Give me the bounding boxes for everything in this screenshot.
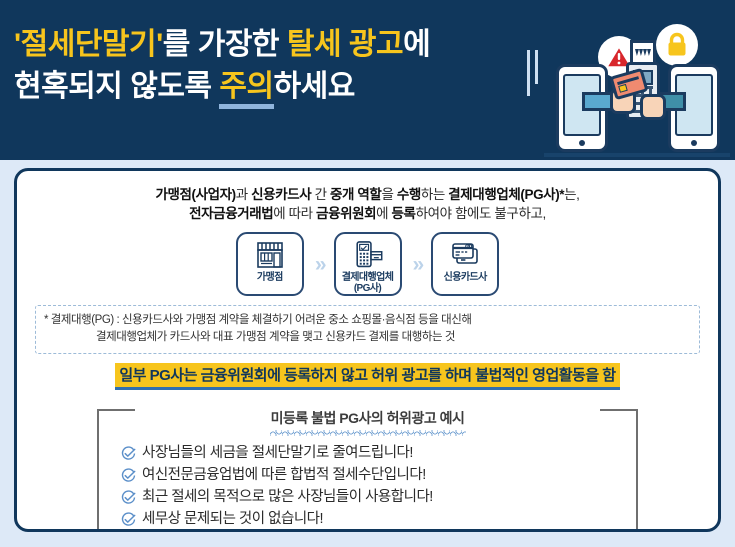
flow-step-merchant: 가맹점: [236, 232, 304, 296]
title-line-1: '절세단말기'를 가장한 탈세 광고에: [14, 26, 430, 64]
title-text-1: 를 가장한: [163, 28, 287, 61]
flow-step-pg-label-line1: 결제대행업체: [342, 272, 394, 283]
receipt-zigzag: [635, 49, 651, 56]
intro-b2: 신용카드사: [251, 187, 311, 202]
intro-t3: 을: [381, 187, 396, 202]
list-item-label: 세무상 문제되는 것이 없습니다!: [142, 508, 323, 530]
title-line-2: 현혹되지 않도록 주의하세요: [14, 68, 430, 106]
flow-step-pg-label-line2: (PG사): [354, 283, 381, 294]
card-magstripe: [617, 76, 639, 85]
flow-step-merchant-label: 가맹점: [257, 273, 283, 284]
title-highlight-caution: 주의: [219, 70, 273, 109]
list-item: 사장님들의 세금을 절세단말기로 줄여드립니다!: [121, 442, 638, 464]
flow-step-cardcompany: 신용카드사: [431, 232, 499, 296]
flow-step-pg: 결제대행업체 (PG사): [334, 232, 402, 296]
flow-arrow-1: »: [315, 254, 323, 275]
decorative-bar-2: [535, 50, 538, 84]
intro-b1: 가맹점(사업자): [155, 187, 235, 202]
card-terminal-icon: [351, 240, 385, 269]
title-highlight-device: '절세단말기': [14, 28, 163, 61]
circle-check-icon: [121, 446, 136, 461]
intro-t5: 는,: [564, 187, 579, 202]
decorative-bar-1: [527, 50, 530, 96]
intro-b3: 중개 역할: [330, 187, 381, 202]
footnote-line-1: * 결제대행(PG) : 신용카드사와 가맹점 계약을 체결하기 어려운 중소 …: [44, 312, 691, 329]
title-text-2: 에: [403, 28, 430, 61]
payment-flow-diagram: 가맹점 » 결제대행업체 (PG사): [17, 232, 718, 296]
false-ad-examples-section: 미등록 불법 PG사의 허위광고 예시 사장님들의 세금을 절세단말기로 줄여드…: [97, 401, 638, 528]
flow-arrow-2: »: [413, 254, 421, 275]
circle-check-icon: [121, 490, 136, 505]
hand-right-icon: [640, 94, 666, 120]
examples-title-text: 미등록 불법 PG사의 허위광고 예시: [271, 410, 465, 426]
flow-step-cardcompany-label: 신용카드사: [444, 273, 487, 284]
padlock-icon: [656, 24, 698, 66]
intro-line-2: 전자금융거래법에 따라 금융위원회에 등록하여야 함에도 불구하고,: [17, 204, 718, 223]
warning-banner-wrap: 일부 PG사는 금융위원회에 등록하지 않고 허위 광고를 하며 불법적인 영업…: [17, 363, 718, 390]
intro-b4: 수행: [397, 187, 421, 202]
card-chip: [618, 84, 628, 93]
phone-home-button: [691, 140, 697, 146]
title-highlight-taxevasion: 탈세 광고: [287, 28, 403, 61]
circle-check-icon: [121, 468, 136, 483]
list-item: 여신전문금융업법에 따른 합법적 절세수단입니다!: [121, 464, 638, 486]
page-title: '절세단말기'를 가장한 탈세 광고에 현혹되지 않도록 주의하세요: [14, 26, 430, 107]
intro-t2: 간: [311, 187, 330, 202]
intro-b8: 등록: [392, 206, 416, 221]
intro-line-1: 가맹점(사업자)과 신용카드사 간 중개 역할을 수행하는 결제대행업체(PG사…: [17, 185, 718, 204]
intro-paragraph: 가맹점(사업자)과 신용카드사 간 중개 역할을 수행하는 결제대행업체(PG사…: [17, 185, 718, 223]
intro-b5: 결제대행업체(PG사)*: [448, 187, 564, 202]
intro-t8: 하여야 함에도 불구하고,: [416, 206, 546, 221]
title-text-4: 하세요: [274, 70, 355, 103]
list-item-label: 사장님들의 세금을 절세단말기로 줄여드립니다!: [142, 442, 413, 464]
intro-t6: 에 따라: [273, 206, 316, 221]
header-illustration: [540, 18, 735, 160]
intro-t7: 에: [376, 206, 391, 221]
intro-b7: 금융위원회: [316, 206, 376, 221]
flow-step-pg-label: 결제대행업체 (PG사): [342, 273, 394, 295]
list-item: 세무상 문제되는 것이 없습니다!: [121, 508, 638, 530]
phone-home-button: [579, 140, 585, 146]
header-banner: '절세단말기'를 가장한 탈세 광고에 현혹되지 않도록 주의하세요: [0, 0, 735, 160]
title-text-3: 현혹되지 않도록: [14, 70, 219, 103]
intro-t4: 하는: [421, 187, 448, 202]
storefront-icon: [253, 240, 287, 270]
list-item: 최근 절세의 목적으로 많은 사장님들이 사용합니다!: [121, 486, 638, 508]
footnote-box: * 결제대행(PG) : 신용카드사와 가맹점 계약을 체결하기 어려운 중소 …: [35, 305, 700, 353]
examples-title: 미등록 불법 PG사의 허위광고 예시: [97, 408, 638, 436]
intro-b6: 전자금융거래법: [189, 206, 273, 221]
content-panel: 가맹점(사업자)과 신용카드사 간 중개 역할을 수행하는 결제대행업체(PG사…: [14, 168, 721, 532]
examples-title-wavy-underline: [270, 430, 466, 436]
circle-check-icon: [121, 512, 136, 527]
credit-cards-icon: [448, 240, 482, 270]
warning-banner-text: 일부 PG사는 금융위원회에 등록하지 않고 허위 광고를 하며 불법적인 영업…: [115, 363, 619, 390]
list-item-label: 여신전문금융업법에 따른 합법적 절세수단입니다!: [142, 464, 426, 486]
intro-t1: 과: [236, 187, 251, 202]
examples-list: 사장님들의 세금을 절세단말기로 줄여드립니다! 여신전문금융업법에 따른 합법…: [97, 442, 638, 530]
list-item-label: 최근 절세의 목적으로 많은 사장님들이 사용합니다!: [142, 486, 433, 508]
footnote-line-2: 결제대행업체가 카드사와 대표 가맹점 계약을 맺고 신용카드 결제를 대행하는…: [44, 329, 691, 346]
ground-line: [544, 153, 730, 157]
